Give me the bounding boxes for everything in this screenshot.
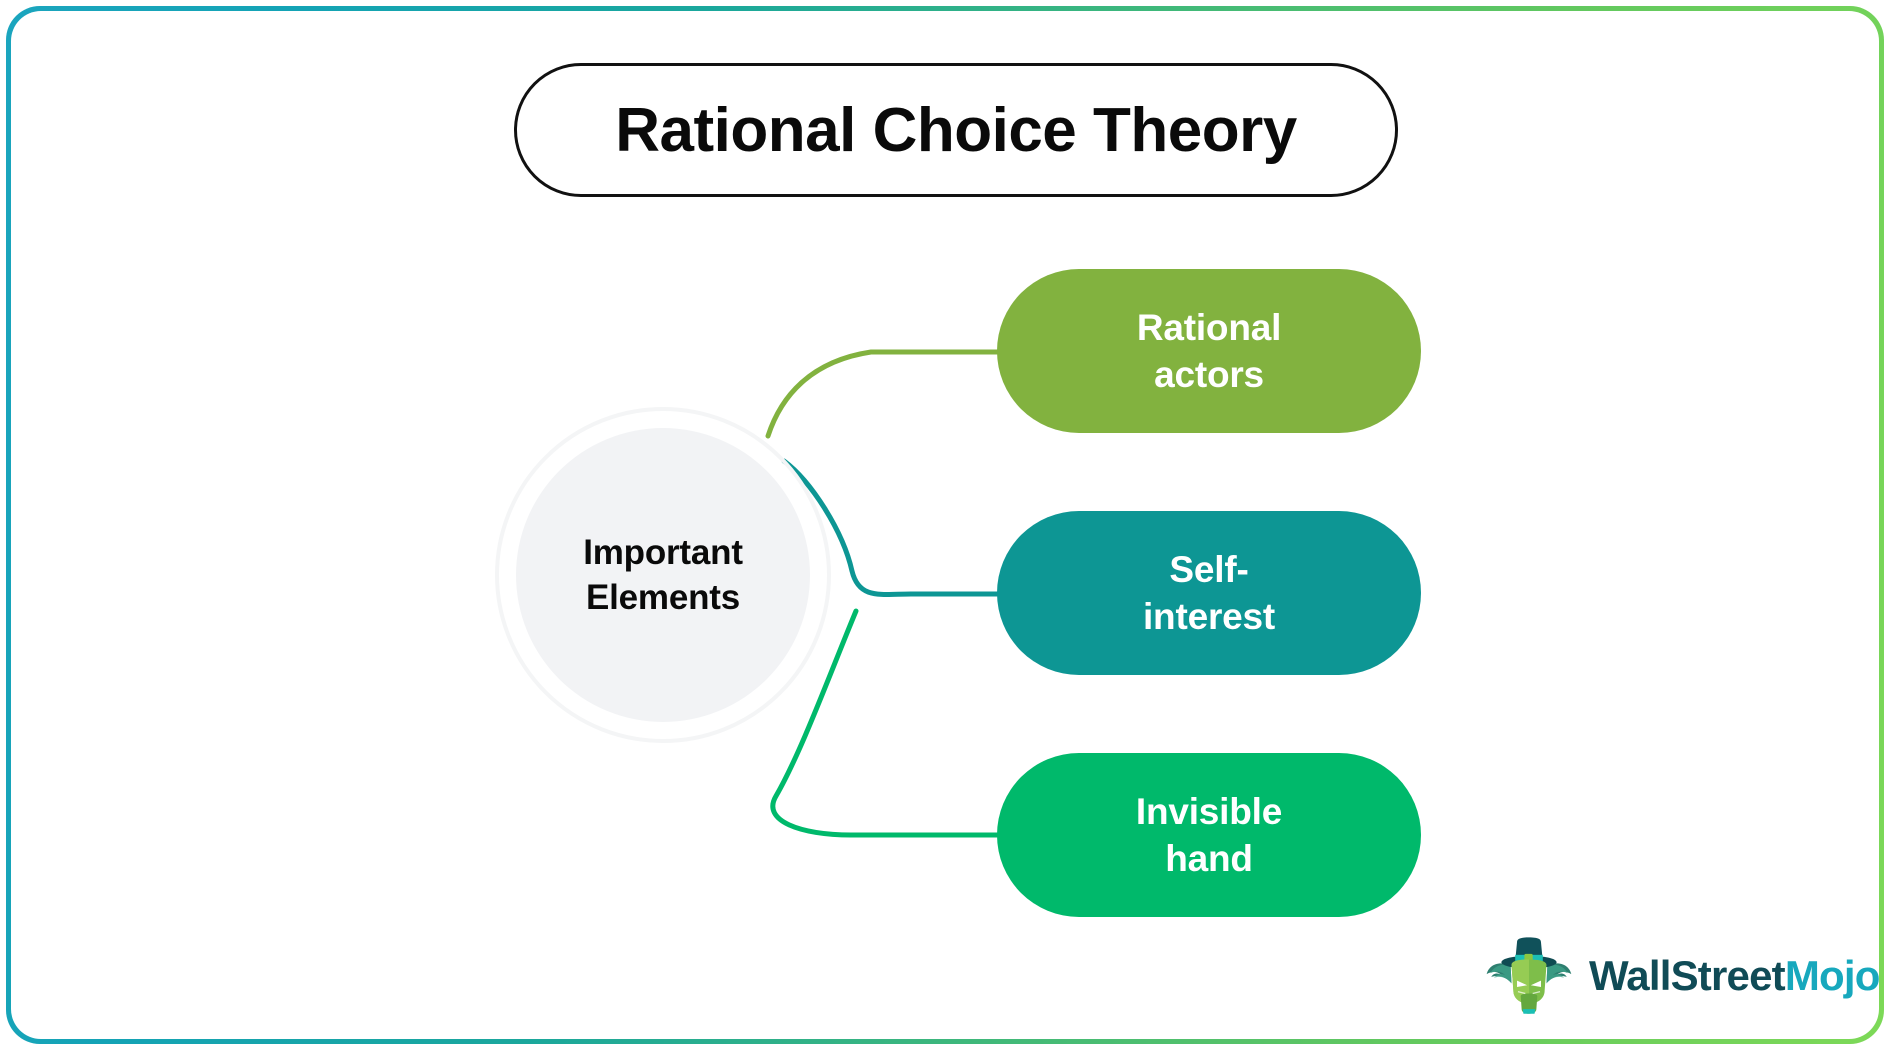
- brand-logo: WallStreetMojo: [1483, 926, 1843, 1026]
- brand-word-primary: WallStreet: [1589, 952, 1785, 999]
- center-node: Important Elements: [495, 407, 831, 743]
- brand-word-accent: Mojo: [1785, 952, 1879, 999]
- branch-label-line1: Self-: [1169, 546, 1248, 593]
- bull-mascot-icon: [1483, 930, 1575, 1022]
- branch-pill-rational-actors: Rational actors: [997, 269, 1421, 433]
- branch-label-line2: interest: [1143, 593, 1275, 640]
- branch-label-line1: Rational: [1137, 304, 1281, 351]
- infographic-card: Rational Choice Theory Important Element…: [6, 6, 1884, 1044]
- card-inner: Rational Choice Theory Important Element…: [11, 11, 1879, 1039]
- center-node-label-line1: Important: [583, 530, 743, 576]
- center-node-label-line2: Elements: [586, 575, 740, 621]
- center-node-disc: Important Elements: [516, 428, 810, 722]
- page-title: Rational Choice Theory: [615, 95, 1296, 166]
- branch-pill-self-interest: Self- interest: [997, 511, 1421, 675]
- branch-label-line1: Invisible: [1136, 788, 1282, 835]
- branch-label-line2: hand: [1165, 835, 1253, 882]
- branch-label-line2: actors: [1154, 351, 1264, 398]
- title-pill: Rational Choice Theory: [514, 63, 1398, 197]
- branch-pill-invisible-hand: Invisible hand: [997, 753, 1421, 917]
- brand-wordmark: WallStreetMojo: [1589, 952, 1879, 1000]
